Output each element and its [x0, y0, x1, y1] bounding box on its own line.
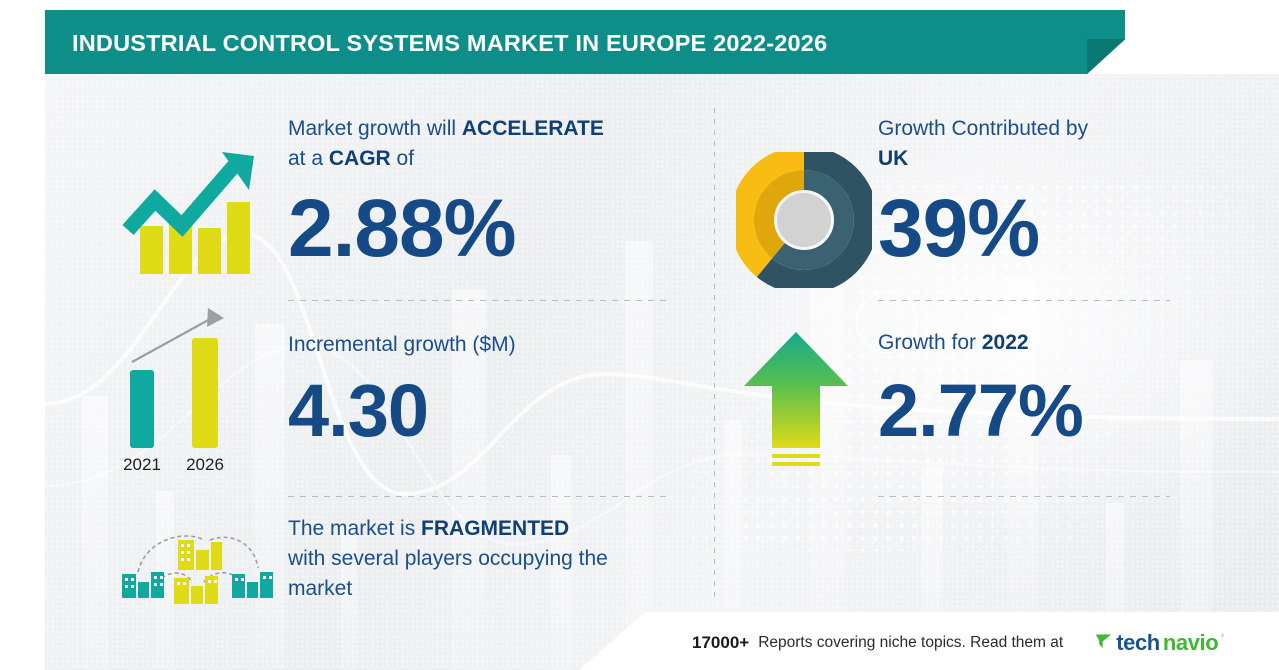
frag-line1-strong: FRAGMENTED: [421, 517, 569, 540]
growth-year-value: 2.77%: [878, 374, 1178, 448]
growth-year-block: Growth for 2022 2.77%: [878, 328, 1178, 448]
uk-contribution-caption: Growth Contributed by UK: [878, 114, 1178, 174]
right-divider-2: [878, 496, 1170, 497]
column-divider: [714, 108, 715, 603]
uk-contribution-block: Growth Contributed by UK 39%: [878, 114, 1178, 270]
growth-year-caption: Growth for 2022: [878, 328, 1178, 358]
logo-trademark: ˚: [1221, 634, 1224, 643]
cagr-line1-strong: ACCELERATE: [462, 117, 604, 140]
cagr-line2-strong: CAGR: [329, 147, 391, 170]
donut-chart-icon: [736, 152, 872, 288]
cagr-line2-suffix: of: [391, 147, 414, 170]
uk-label-regular: Growth Contributed by: [878, 117, 1088, 140]
logo-text-navio: navio: [1163, 630, 1218, 656]
two-bar-growth-icon: 2021 2026: [108, 300, 274, 480]
up-arrow-gradient-icon: [736, 330, 860, 480]
fragmentation-block: The market is FRAGMENTED with several pl…: [288, 514, 680, 604]
report-count: 17000+: [692, 633, 749, 653]
footer-content: 17000+ Reports covering niche topics. Re…: [692, 630, 1224, 656]
incremental-growth-block: Incremental growth ($M) 4.30: [288, 330, 678, 448]
technavio-flag-icon: [1094, 631, 1113, 655]
infographic-canvas: INDUSTRIAL CONTROL SYSTEMS MARKET IN EUR…: [0, 0, 1279, 670]
technavio-logo[interactable]: technavio˚: [1094, 630, 1224, 656]
uk-label-strong: UK: [878, 147, 908, 170]
frag-line1-prefix: The market is: [288, 517, 421, 540]
cagr-value: 2.88%: [288, 188, 678, 270]
city-cluster-icon: [112, 516, 280, 604]
logo-text-tech: tech: [1116, 630, 1160, 656]
fragmentation-caption: The market is FRAGMENTED with several pl…: [288, 514, 680, 604]
svg-text:2021: 2021: [123, 455, 161, 474]
uk-contribution-value: 39%: [878, 188, 1178, 270]
footer: 17000+ Reports covering niche topics. Re…: [0, 612, 1279, 670]
header: INDUSTRIAL CONTROL SYSTEMS MARKET IN EUR…: [45, 10, 1125, 74]
frag-line3: market: [288, 577, 352, 600]
right-divider-1: [878, 300, 1170, 301]
left-divider-1: [288, 300, 666, 301]
incremental-growth-value: 4.30: [288, 374, 678, 448]
cagr-line2-prefix: at a: [288, 147, 329, 170]
page-title: INDUSTRIAL CONTROL SYSTEMS MARKET IN EUR…: [72, 30, 827, 57]
growth-year-label-regular: Growth for: [878, 331, 982, 354]
frag-line2: with several players occupying the: [288, 547, 608, 570]
cagr-line1-prefix: Market growth will: [288, 117, 462, 140]
cagr-caption: Market growth will ACCELERATE at a CAGR …: [288, 114, 678, 174]
cagr-block: Market growth will ACCELERATE at a CAGR …: [288, 114, 678, 270]
incremental-growth-label: Incremental growth ($M): [288, 330, 678, 360]
svg-text:2026: 2026: [186, 455, 224, 474]
growth-arrow-chart-icon: [118, 134, 274, 280]
left-divider-2: [288, 496, 666, 497]
growth-year-label-strong: 2022: [982, 331, 1029, 354]
footer-text: Reports covering niche topics. Read them…: [758, 634, 1063, 652]
